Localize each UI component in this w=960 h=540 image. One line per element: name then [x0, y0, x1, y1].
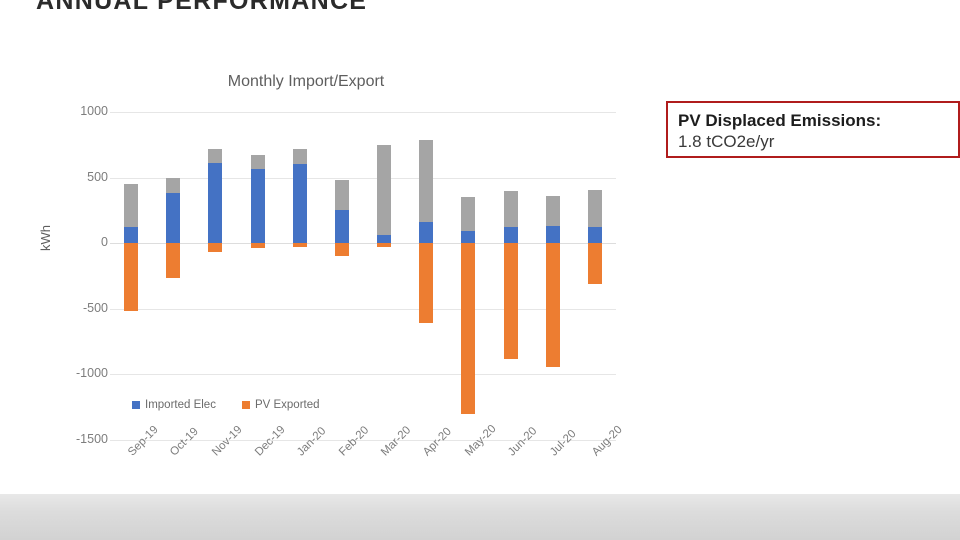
legend-swatch-imported-elec	[132, 401, 140, 409]
y-axis-tick--500: -500	[18, 301, 108, 315]
slide-bottom-band	[0, 494, 960, 540]
bar-segment-pv-exported	[208, 243, 222, 252]
bar-segment-grey	[588, 190, 602, 227]
legend-swatch-pv-exported	[242, 401, 250, 409]
bar-segment-pv-exported	[335, 243, 349, 256]
bar-segment-imported-elec	[377, 235, 391, 243]
bar-segment-imported-elec	[588, 227, 602, 243]
bar-segment-grey	[504, 191, 518, 228]
bar-segment-grey	[419, 140, 433, 221]
bar-segment-pv-exported	[504, 243, 518, 358]
bar-segment-imported-elec	[461, 231, 475, 243]
bar-segment-pv-exported	[419, 243, 433, 323]
callout-title: PV Displaced Emissions:	[678, 110, 958, 131]
bar-segment-grey	[546, 196, 560, 226]
bar-segment-grey	[461, 197, 475, 230]
bar-segment-grey	[124, 184, 138, 227]
monthly-import-export-chart: Monthly Import/Export kWh 10005000-500-1…	[46, 66, 636, 486]
plot-area: 10005000-500-1000-1500Sep-19Oct-19Nov-19…	[110, 112, 616, 440]
bar-segment-imported-elec	[124, 227, 138, 243]
legend-item-imported-elec: Imported Elec	[132, 399, 216, 411]
chart-legend: Imported Elec PV Exported	[132, 399, 320, 411]
bar-segment-pv-exported	[546, 243, 560, 366]
bar-group	[588, 112, 602, 440]
bar-segment-imported-elec	[546, 226, 560, 243]
gridline--1000	[110, 374, 616, 375]
pv-displaced-emissions-callout: PV Displaced Emissions: 1.8 tCO2e/yr	[666, 101, 960, 158]
legend-label-pv-exported: PV Exported	[255, 399, 320, 411]
y-axis-tick--1500: -1500	[18, 432, 108, 446]
bar-segment-grey	[335, 180, 349, 211]
legend-label-imported-elec: Imported Elec	[145, 399, 216, 411]
bar-segment-grey	[166, 178, 180, 193]
bar-group	[208, 112, 222, 440]
gridline-1000	[110, 112, 616, 113]
bar-group	[293, 112, 307, 440]
chart-title: Monthly Import/Export	[46, 73, 566, 91]
gridline--500	[110, 309, 616, 310]
y-axis-tick--1000: -1000	[18, 366, 108, 380]
bar-segment-pv-exported	[251, 243, 265, 248]
bar-segment-pv-exported	[377, 243, 391, 247]
gridline-0	[110, 243, 616, 244]
bar-group	[504, 112, 518, 440]
bar-segment-pv-exported	[293, 243, 307, 247]
bar-segment-pv-exported	[588, 243, 602, 284]
bar-segment-imported-elec	[293, 164, 307, 243]
gridline-500	[110, 178, 616, 179]
bar-segment-imported-elec	[419, 222, 433, 244]
bar-group	[461, 112, 475, 440]
bar-group	[251, 112, 265, 440]
bar-group	[124, 112, 138, 440]
bar-segment-pv-exported	[166, 243, 180, 278]
bar-group	[335, 112, 349, 440]
bar-segment-grey	[251, 155, 265, 169]
bar-segment-pv-exported	[124, 243, 138, 311]
page-title: ANNUAL PERFORMANCE	[36, 0, 367, 16]
bar-segment-grey	[293, 149, 307, 165]
legend-item-pv-exported: PV Exported	[242, 399, 320, 411]
bar-segment-imported-elec	[166, 193, 180, 243]
bar-group	[377, 112, 391, 440]
callout-value: 1.8 tCO2e/yr	[678, 131, 958, 153]
bar-segment-imported-elec	[251, 169, 265, 243]
bar-segment-grey	[208, 149, 222, 163]
y-axis-tick-500: 500	[18, 170, 108, 184]
bar-group	[166, 112, 180, 440]
slide: ANNUAL PERFORMANCE Monthly Import/Export…	[0, 0, 960, 540]
bar-segment-pv-exported	[461, 243, 475, 414]
y-axis-tick-0: 0	[18, 235, 108, 249]
bar-group	[419, 112, 433, 440]
bar-segment-grey	[377, 145, 391, 236]
y-axis-tick-1000: 1000	[18, 104, 108, 118]
bar-segment-imported-elec	[335, 210, 349, 243]
bar-segment-imported-elec	[504, 227, 518, 243]
bar-group	[546, 112, 560, 440]
bar-segment-imported-elec	[208, 163, 222, 243]
